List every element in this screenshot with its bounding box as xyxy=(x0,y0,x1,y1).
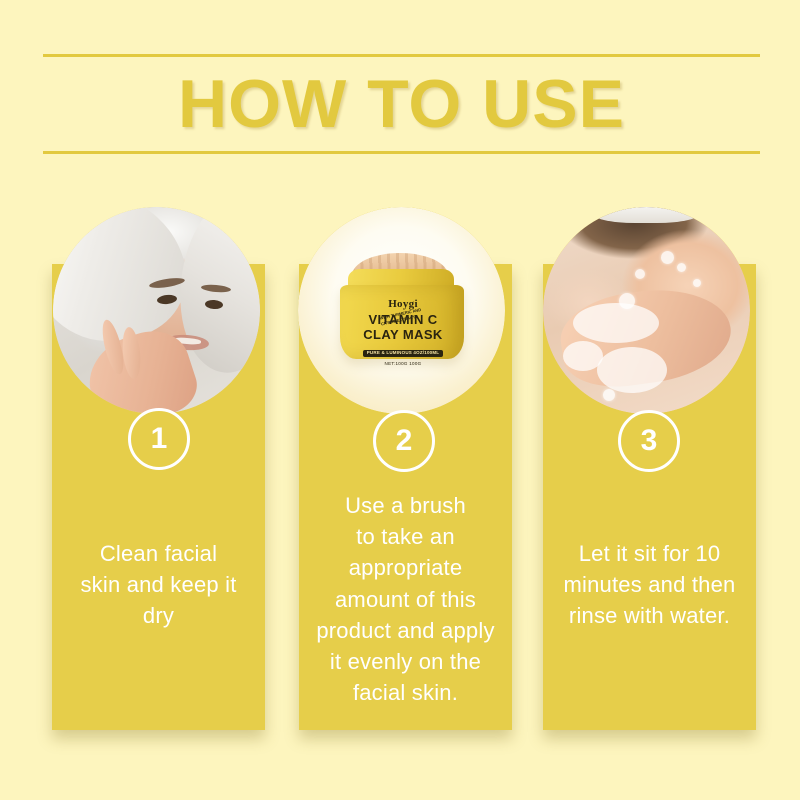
product-name-line-2: CLAY MASK xyxy=(344,328,462,342)
hair-band xyxy=(591,207,701,223)
vitamin-c-clay-mask-jar-photo: Hoygi VITAMIN C CLAY MASK PURE & LUMINOU… xyxy=(298,207,505,414)
step-3-caption: Let it sit for 10 minutes and then rinse… xyxy=(545,538,754,632)
product-net-weight: NET:100G 100G xyxy=(344,362,462,367)
jar-label: Hoygi VITAMIN C CLAY MASK PURE & LUMINOU… xyxy=(344,299,462,366)
water-drop-1 xyxy=(661,251,674,264)
step-3-photo xyxy=(543,207,750,414)
step-1-caption: Clean facial skin and keep it dry xyxy=(54,538,263,632)
water-drop-5 xyxy=(693,279,701,287)
water-drop-3 xyxy=(635,269,645,279)
water-drop-6 xyxy=(603,389,615,401)
water-drop-2 xyxy=(677,263,686,272)
step-2-number-badge: 2 xyxy=(373,410,435,472)
woman-cleansing-face-photo xyxy=(53,207,260,414)
steps-container: 1 Clean facial skin and keep it dry Hoyg… xyxy=(0,0,800,800)
water-splash-2 xyxy=(597,347,667,393)
product-tagline: PURE & LUMINOUS 4OZ/100ML xyxy=(363,350,444,357)
step-1-number-badge: 1 xyxy=(128,408,190,470)
step-2-photo: Hoygi VITAMIN C CLAY MASK PURE & LUMINOU… xyxy=(298,207,505,414)
step-2-caption: Use a brush to take an appropriate amoun… xyxy=(300,490,511,709)
water-splash-1 xyxy=(573,303,659,343)
water-drop-4 xyxy=(619,293,635,309)
water-splash-3 xyxy=(563,341,603,371)
brand-name: Hoygi xyxy=(344,299,462,311)
step-1-photo xyxy=(53,207,260,414)
step-3-number-badge: 3 xyxy=(618,410,680,472)
rinsing-face-with-water-photo xyxy=(543,207,750,414)
